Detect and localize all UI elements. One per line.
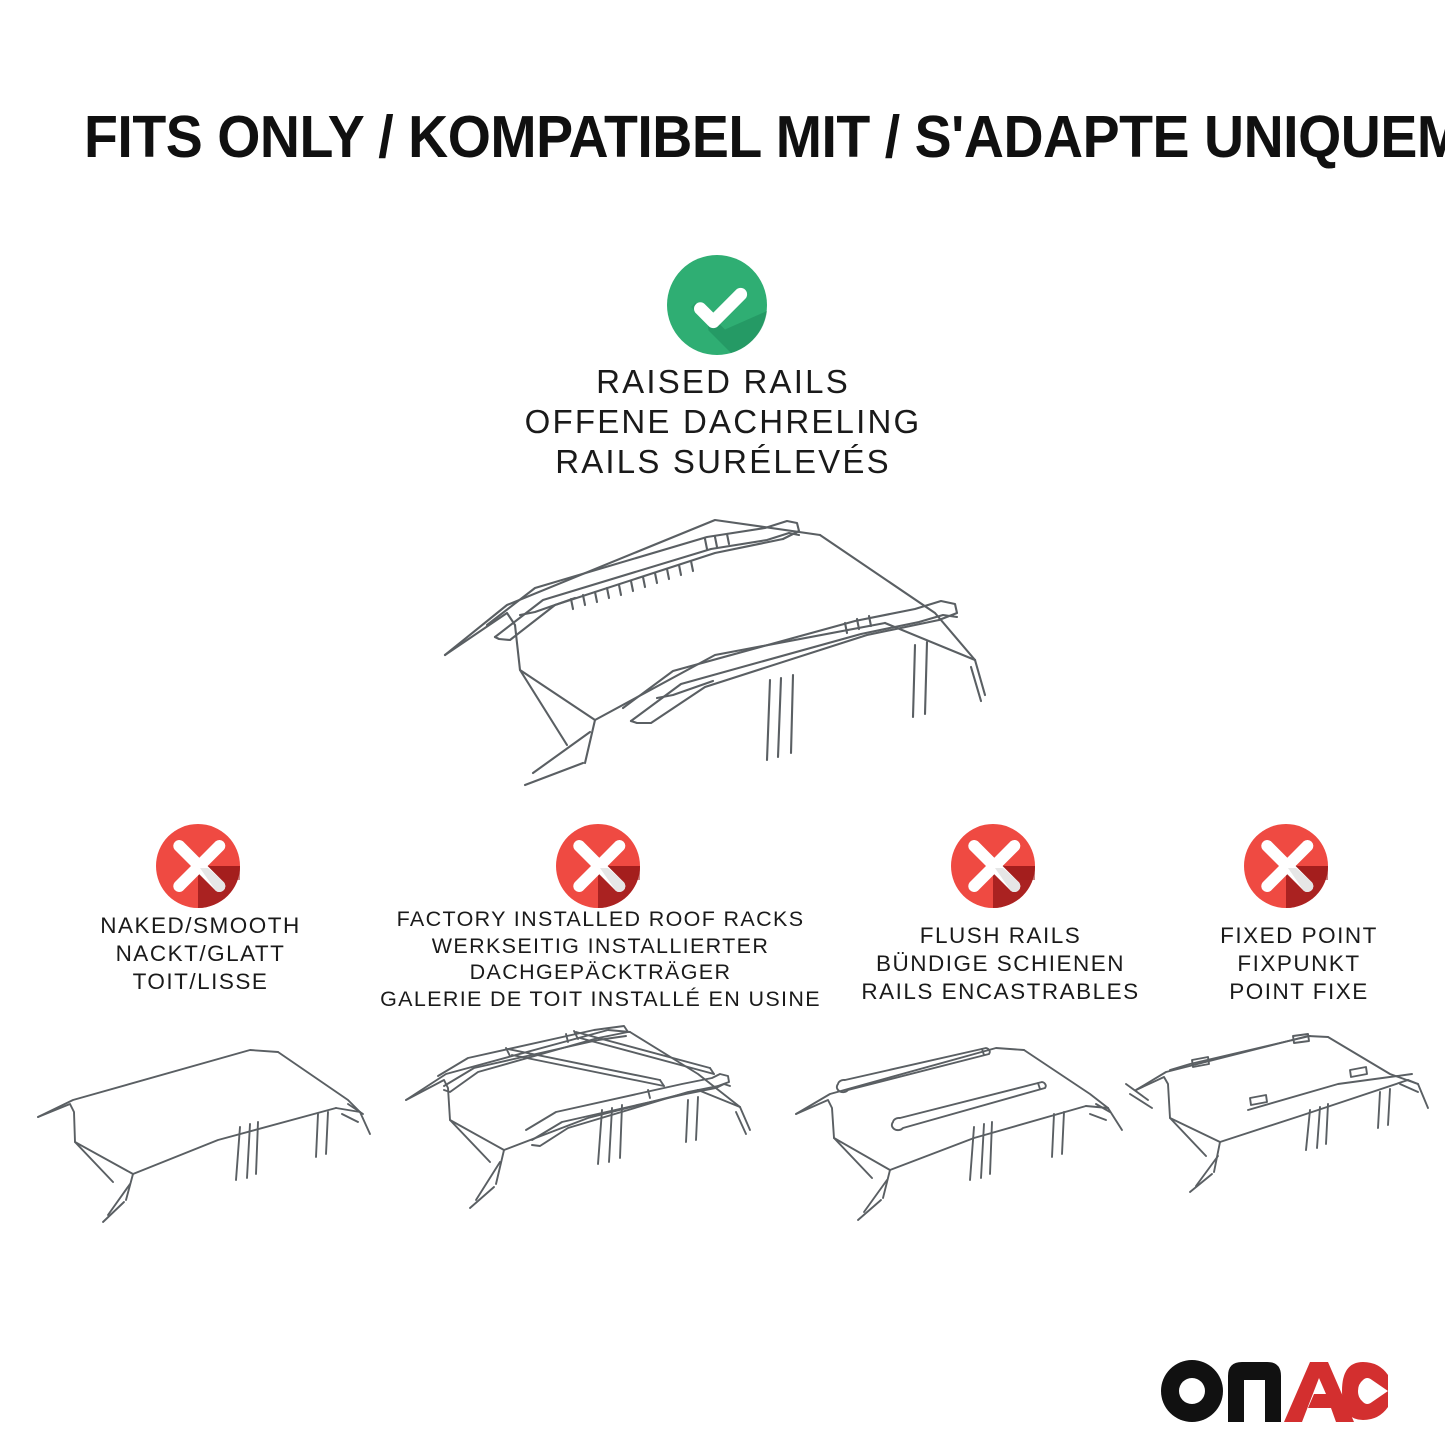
x-circle-icon bbox=[154, 822, 246, 914]
incompatible-label-factory-roof-racks: FACTORY INSTALLED ROOF RACKS WERKSEITIG … bbox=[368, 906, 833, 1012]
car-roof-flush-rails-illustration bbox=[778, 1022, 1163, 1237]
incompatible-label-line-de: FIXPUNKT bbox=[1168, 950, 1430, 978]
car-roof-raised-rails-illustration bbox=[415, 495, 1015, 790]
compatible-label: RAISED RAILS OFFENE DACHRELING RAILS SUR… bbox=[473, 362, 973, 482]
page-title: FITS ONLY / KOMPATIBEL MIT / S'ADAPTE UN… bbox=[84, 105, 1297, 169]
incompatible-label-fixed-point: FIXED POINT FIXPUNKT POINT FIXE bbox=[1168, 922, 1430, 1006]
compatible-label-line-fr: RAILS SURÉLEVÉS bbox=[473, 442, 973, 482]
x-circle-icon bbox=[554, 822, 646, 914]
check-circle-icon bbox=[665, 253, 773, 361]
compatible-label-line-de: OFFENE DACHRELING bbox=[473, 402, 973, 442]
incompatible-label-line-fr: GALERIE DE TOIT INSTALLÉ EN USINE bbox=[368, 986, 833, 1013]
incompatible-label-line-fr: POINT FIXE bbox=[1168, 978, 1430, 1006]
incompatible-label-line-de: BÜNDIGE SCHIENEN bbox=[833, 950, 1168, 978]
incompatible-label-line-de: NACKT/GLATT bbox=[38, 940, 363, 968]
compatible-label-line-en: RAISED RAILS bbox=[473, 362, 973, 402]
car-roof-factory-roof-racks-illustration bbox=[398, 1012, 788, 1238]
incompatible-label-line-fr: RAILS ENCASTRABLES bbox=[833, 978, 1168, 1006]
incompatible-label-line-en: FACTORY INSTALLED ROOF RACKS bbox=[368, 906, 833, 933]
x-circle-icon bbox=[949, 822, 1041, 914]
incompatible-label-line-de-2: DACHGEPÄCKTRÄGER bbox=[368, 959, 833, 986]
x-circle-icon bbox=[1242, 822, 1334, 914]
incompatible-label-naked-smooth: NAKED/SMOOTH NACKT/GLATT TOIT/LISSE bbox=[38, 912, 363, 996]
incompatible-label-line-fr: TOIT/LISSE bbox=[38, 968, 363, 996]
car-roof-naked-smooth-illustration bbox=[18, 1022, 388, 1237]
omac-logo bbox=[1160, 1358, 1390, 1424]
incompatible-label-line-en: FIXED POINT bbox=[1168, 922, 1430, 950]
incompatible-label-line-en: FLUSH RAILS bbox=[833, 922, 1168, 950]
product-compatibility-infographic: FITS ONLY / KOMPATIBEL MIT / S'ADAPTE UN… bbox=[0, 0, 1445, 1445]
car-roof-fixed-point-illustration bbox=[1128, 1022, 1445, 1237]
incompatible-label-line-de-1: WERKSEITIG INSTALLIERTER bbox=[368, 933, 833, 960]
incompatible-label-flush-rails: FLUSH RAILS BÜNDIGE SCHIENEN RAILS ENCAS… bbox=[833, 922, 1168, 1006]
incompatible-label-line-en: NAKED/SMOOTH bbox=[38, 912, 363, 940]
